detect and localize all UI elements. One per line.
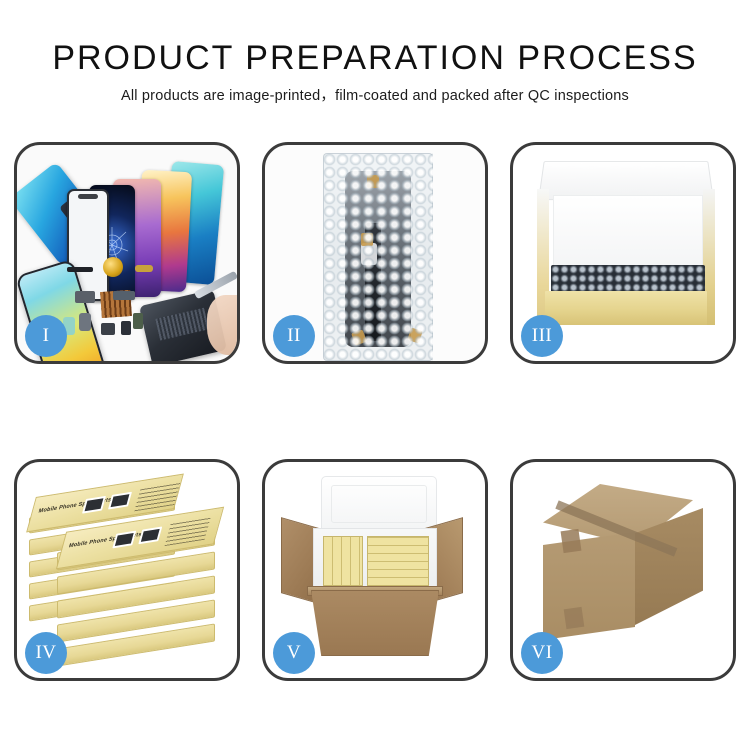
carton-body-icon	[311, 590, 439, 656]
step-panel-2: II	[262, 142, 488, 364]
box-spec-lines	[134, 482, 180, 511]
small-part-icon	[135, 265, 153, 272]
product-preparation-infographic: PRODUCT PREPARATION PROCESS All products…	[0, 0, 750, 750]
small-part-icon	[101, 323, 115, 335]
box-artwork-thumb-icon	[82, 496, 106, 514]
technician-hand-icon	[207, 295, 237, 355]
page-subtitle: All products are image-printed，film-coat…	[0, 87, 750, 105]
step-number-badge: II	[273, 315, 315, 357]
step-panel-1: I	[14, 142, 240, 364]
bubble-wrapped-items-icon	[551, 265, 705, 293]
yellow-boxes-group	[367, 536, 429, 586]
header: PRODUCT PREPARATION PROCESS All products…	[0, 38, 750, 105]
foam-sheet-icon	[553, 195, 703, 267]
foam-lid-icon	[321, 476, 437, 534]
carton-front-icon	[543, 532, 635, 640]
step-panel-6: VI	[510, 459, 736, 681]
process-steps-grid: I II	[14, 142, 736, 682]
step-number-badge: IV	[25, 632, 67, 674]
small-part-icon	[67, 267, 93, 272]
phone-notch-icon	[78, 194, 98, 199]
small-part-icon	[121, 321, 131, 335]
step-number-badge: V	[273, 632, 315, 674]
carton-tape-icon	[561, 529, 582, 553]
flex-cable-icon	[113, 291, 135, 300]
step-panel-3: III	[510, 142, 736, 364]
step-number-badge: I	[25, 315, 67, 357]
step-number-badge: III	[521, 315, 563, 357]
yellow-boxes-group	[323, 536, 363, 586]
step-number-badge: VI	[521, 632, 563, 674]
yellow-box-front-icon	[545, 291, 707, 325]
bubble-wrap-bag-icon	[323, 153, 433, 361]
small-part-icon	[79, 313, 91, 331]
box-artwork-thumb-icon	[108, 492, 132, 510]
battery-part-icon	[133, 313, 143, 329]
box-artwork-thumb-icon	[138, 526, 162, 544]
step-panel-5: V	[262, 459, 488, 681]
carton-tape-icon	[564, 607, 585, 629]
small-part-icon	[75, 291, 95, 303]
box-spec-lines	[165, 517, 211, 546]
bubble-texture	[323, 153, 433, 361]
speaker-part-icon	[103, 257, 123, 277]
box-artwork-thumb-icon	[112, 531, 136, 549]
page-title: PRODUCT PREPARATION PROCESS	[0, 38, 750, 78]
step-panel-4: Mobile Phone Spare Parts Mobile Phone Sp…	[14, 459, 240, 681]
